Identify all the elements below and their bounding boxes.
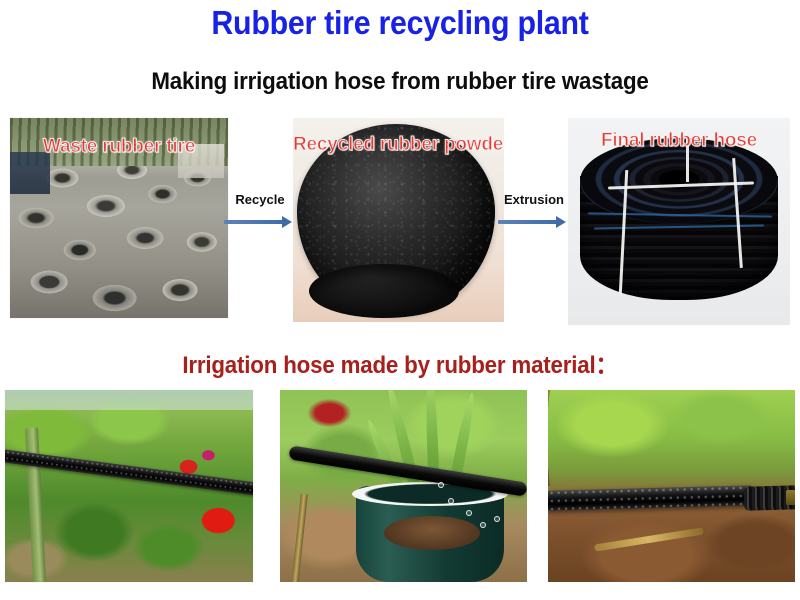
twig [594,527,704,551]
hose-connector-tip [786,490,795,505]
photo-hose-on-soil-with-connector [548,390,795,582]
shed-shape [10,152,50,194]
photo-recycled-rubber-powder: Recycled rubber powder [293,118,504,322]
photo-waste-rubber-tire: Waste rubber tire [10,118,228,318]
water-droplet [480,522,486,528]
pot-soil [384,516,480,550]
section-title: Irrigation hose made by rubber material： [28,345,772,380]
water-droplet [448,498,454,504]
irrigation-hose [5,448,253,496]
arrow-label-recycle: Recycle [224,192,296,207]
arrow-recycle: Recycle [224,192,296,232]
plant-stems [548,390,795,486]
page-subtitle: Making irrigation hose from rubber tire … [28,68,772,96]
bamboo-stick [291,494,308,582]
photo-final-rubber-hose: Final rubber hose [568,118,790,325]
page-title: Rubber tire recycling plant [32,4,768,42]
hose-tie-center [686,138,689,182]
arrow-extrusion: Extrusion [498,192,570,232]
photo-hose-over-flower-shrub [5,390,253,582]
arrow-head-icon [556,216,566,228]
arrow-line [224,220,284,224]
arrow-head-icon [282,216,292,228]
water-droplet [438,482,444,488]
irrigation-hose [548,485,758,511]
building-shape [178,144,224,178]
water-droplet [466,510,472,516]
water-droplet [494,516,500,522]
plant-stake [25,428,46,582]
photo-hose-watering-potted-plant [280,390,527,582]
sky-band [5,390,253,410]
powder-lower-lobe [309,264,459,318]
arrow-label-extrusion: Extrusion [498,192,570,207]
arrow-line [498,220,558,224]
